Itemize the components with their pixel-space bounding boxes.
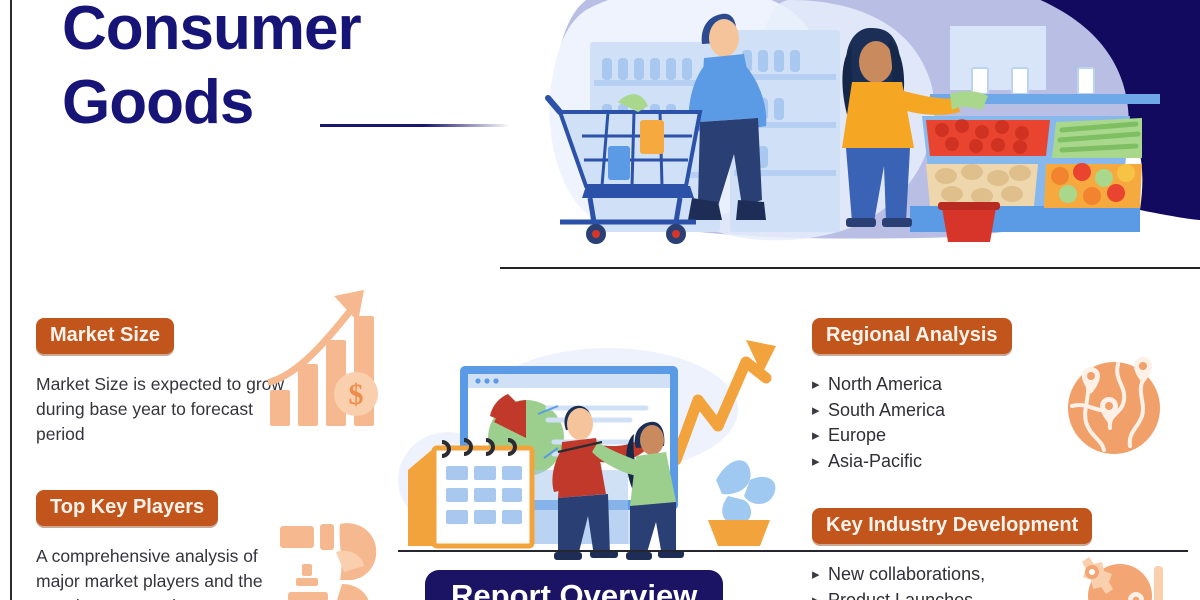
panel-market-size: Market Size Market Size is expected to g… xyxy=(36,318,286,447)
growth-bar-chart-dollar-icon: $ xyxy=(268,282,388,427)
page-title-line-2: Goods xyxy=(62,66,482,140)
panel-regional-analysis: Regional Analysis North America South Am… xyxy=(812,318,1072,474)
list-item[interactable]: North America xyxy=(812,372,1072,398)
report-overview-banner: Report Overview xyxy=(425,570,723,600)
hero-illustration xyxy=(490,0,1200,270)
market-size-description: Market Size is expected to grow during b… xyxy=(36,372,286,447)
infographic-page: Consumer Goods Market Size Market Size i… xyxy=(0,0,1200,600)
list-item[interactable]: South America xyxy=(812,398,1072,424)
top-key-players-description: A comprehensive analysis of major market… xyxy=(36,544,296,600)
badge-top-key-players[interactable]: Top Key Players xyxy=(36,490,218,526)
badge-regional-analysis[interactable]: Regional Analysis xyxy=(812,318,1012,354)
gear-cog-icon xyxy=(1058,548,1178,600)
badge-key-industry-development[interactable]: Key Industry Development xyxy=(812,508,1092,544)
data-presentation-illustration xyxy=(398,330,798,570)
hero-divider-rule xyxy=(500,267,1200,269)
grocery-shopping-illustration xyxy=(490,0,1200,270)
svg-text:$: $ xyxy=(349,378,364,411)
handshake-chess-piece-icon xyxy=(278,518,393,600)
page-title-line-1: Consumer xyxy=(62,0,482,66)
regional-analysis-list: North America South America Europe Asia-… xyxy=(812,372,1072,474)
page-title: Consumer Goods xyxy=(62,0,482,140)
list-item[interactable]: Europe xyxy=(812,423,1072,449)
title-underline-rule xyxy=(320,124,510,127)
panel-top-key-players: Top Key Players A comprehensive analysis… xyxy=(36,490,296,600)
list-item[interactable]: Asia-Pacific xyxy=(812,449,1072,475)
left-border-rule xyxy=(10,0,12,600)
report-overview-label[interactable]: Report Overview xyxy=(425,570,723,600)
globe-map-pins-icon xyxy=(1058,352,1170,457)
badge-market-size[interactable]: Market Size xyxy=(36,318,174,354)
